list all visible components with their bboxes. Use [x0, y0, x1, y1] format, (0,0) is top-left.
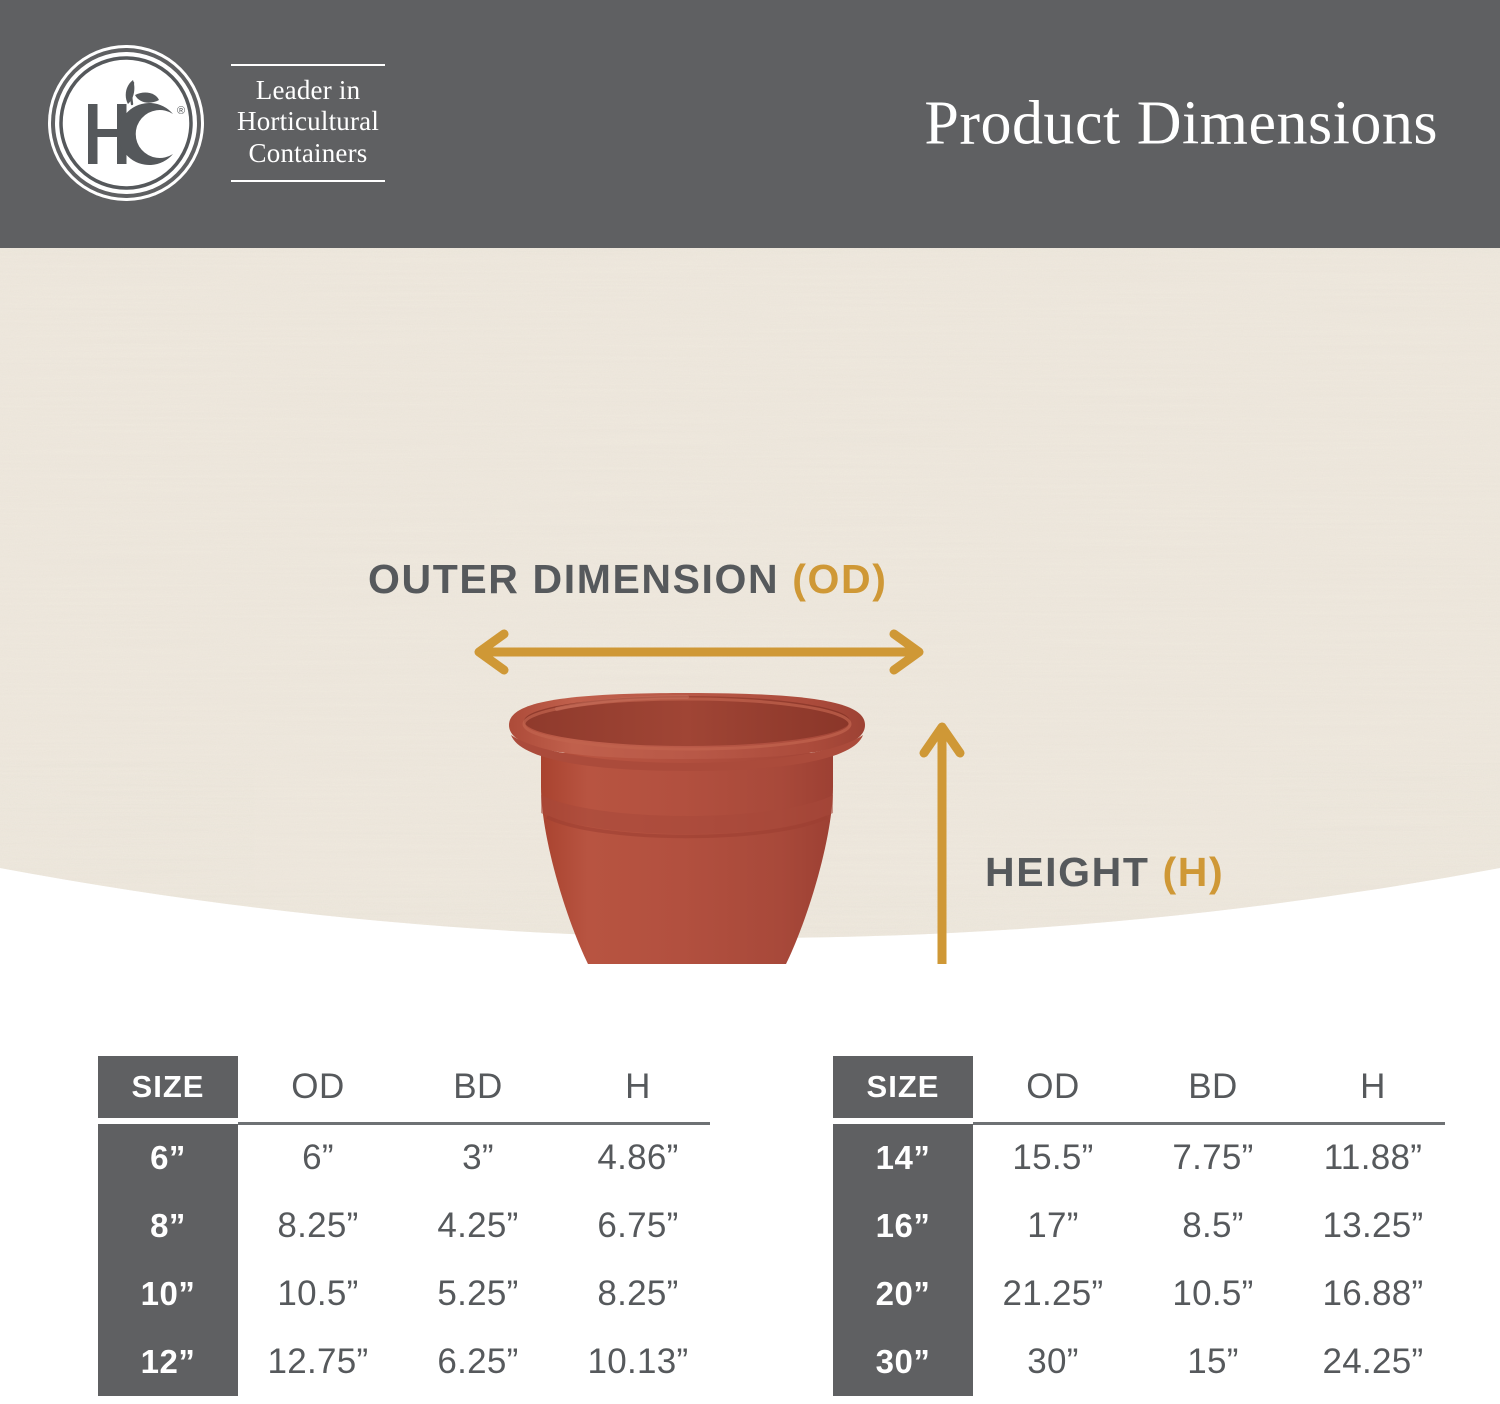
cell-h: 24.25” [1293, 1342, 1453, 1382]
dimensions-table-small-sizes: SIZE OD BD H 6” 6” 3” 4.86” [98, 1050, 718, 1396]
cell-bd: 8.5” [1133, 1206, 1293, 1246]
cell-size: 6” [98, 1139, 238, 1177]
h-label-abbr: (H) [1162, 849, 1224, 895]
trademark-symbol: ® [177, 105, 185, 117]
hc-leaf-badge-logo: ® [55, 52, 197, 194]
page-title: Product Dimensions [924, 89, 1438, 160]
tagline-line-2: Horticultural [237, 106, 379, 138]
cell-od: 30” [973, 1342, 1133, 1382]
diagram-panel: OUTER DIMENSION (OD) [0, 248, 1500, 964]
cell-od: 8.25” [238, 1206, 398, 1246]
cell-size: 8” [98, 1207, 238, 1245]
table-row: 6” 6” 3” 4.86” [98, 1124, 718, 1192]
od-label-abbr: (OD) [792, 556, 887, 602]
cell-bd: 4.25” [398, 1206, 558, 1246]
column-header-h: H [1293, 1067, 1453, 1107]
cell-bd: 15” [1133, 1342, 1293, 1382]
table-header-row: SIZE OD BD H [833, 1050, 1453, 1124]
cell-h: 6.75” [558, 1206, 718, 1246]
infographic-canvas: ® Leader in Horticultural Containers Pro… [0, 0, 1500, 1404]
table-row: 16” 17” 8.5” 13.25” [833, 1192, 1453, 1260]
cell-h: 4.86” [558, 1138, 718, 1178]
height-arrow-icon [918, 713, 966, 964]
column-header-od: OD [238, 1067, 398, 1107]
table-row: 8” 8.25” 4.25” 6.75” [98, 1192, 718, 1260]
cell-bd: 3” [398, 1138, 558, 1178]
cell-od: 15.5” [973, 1138, 1133, 1178]
cell-bd: 10.5” [1133, 1274, 1293, 1314]
table-row: 30” 30” 15” 24.25” [833, 1328, 1453, 1396]
cell-bd: 5.25” [398, 1274, 558, 1314]
dimension-tables: SIZE OD BD H 6” 6” 3” 4.86” [0, 1050, 1500, 1404]
pot-body [541, 753, 833, 964]
cell-h: 8.25” [558, 1274, 718, 1314]
tagline-line-1: Leader in [237, 75, 379, 107]
column-header-size: SIZE [833, 1056, 973, 1118]
cell-od: 12.75” [238, 1342, 398, 1382]
column-header-size: SIZE [98, 1056, 238, 1118]
cell-size: 30” [833, 1343, 973, 1381]
height-label: HEIGHT (H) [985, 849, 1224, 896]
page-header: ® Leader in Horticultural Containers Pro… [0, 0, 1500, 248]
cell-od: 17” [973, 1206, 1133, 1246]
table-row: 12” 12.75” 6.25” 10.13” [98, 1328, 718, 1396]
column-header-bd: BD [398, 1067, 558, 1107]
column-header-od: OD [973, 1067, 1133, 1107]
table-row: 10” 10.5” 5.25” 8.25” [98, 1260, 718, 1328]
column-header-h: H [558, 1067, 718, 1107]
cell-h: 11.88” [1293, 1138, 1453, 1178]
column-header-bd: BD [1133, 1067, 1293, 1107]
cell-h: 10.13” [558, 1342, 718, 1382]
cell-od: 6” [238, 1138, 398, 1178]
terracotta-planter-pot [497, 691, 877, 964]
table-header-row: SIZE OD BD H [98, 1050, 718, 1124]
cell-h: 16.88” [1293, 1274, 1453, 1314]
outer-dimension-arrow-icon [464, 628, 934, 676]
cell-size: 10” [98, 1275, 238, 1313]
tagline-line-3: Containers [237, 138, 379, 170]
cell-od: 21.25” [973, 1274, 1133, 1314]
cell-size: 16” [833, 1207, 973, 1245]
cell-od: 10.5” [238, 1274, 398, 1314]
table-row: 14” 15.5” 7.75” 11.88” [833, 1124, 1453, 1192]
cell-size: 14” [833, 1139, 973, 1177]
h-label-text: HEIGHT [985, 849, 1162, 895]
table-row: 20” 21.25” 10.5” 16.88” [833, 1260, 1453, 1328]
brand-lockup: ® Leader in Horticultural Containers [55, 52, 385, 194]
cell-h: 13.25” [1293, 1206, 1453, 1246]
logo-artwork: ® [55, 52, 197, 194]
cell-size: 12” [98, 1343, 238, 1381]
cell-bd: 7.75” [1133, 1138, 1293, 1178]
pot-inner-opening [524, 696, 850, 746]
cell-size: 20” [833, 1275, 973, 1313]
outer-dimension-label: OUTER DIMENSION (OD) [368, 556, 887, 603]
brand-tagline: Leader in Horticultural Containers [231, 64, 385, 183]
dimensions-table-large-sizes: SIZE OD BD H 14” 15.5” 7.75” 11.88” [833, 1050, 1453, 1396]
od-label-text: OUTER DIMENSION [368, 556, 792, 602]
cell-bd: 6.25” [398, 1342, 558, 1382]
